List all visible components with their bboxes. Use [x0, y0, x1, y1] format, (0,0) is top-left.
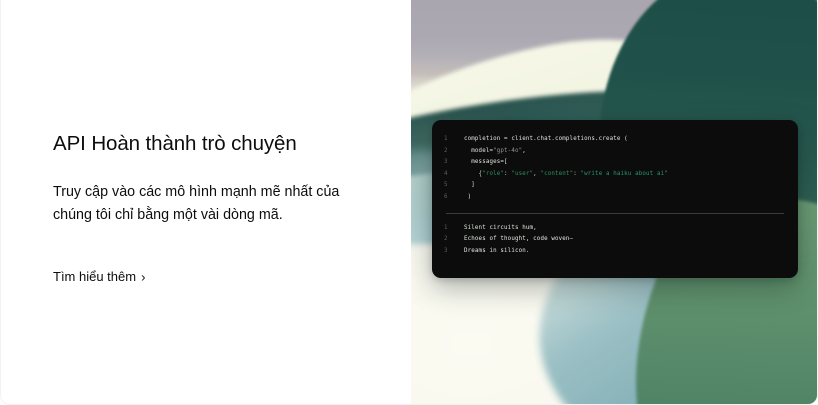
- code-line-number: 6: [444, 192, 464, 204]
- output-line-number: 2: [444, 234, 464, 246]
- code-line-text: ]: [464, 180, 475, 192]
- code-line: 1completion = client.chat.completions.cr…: [432, 134, 798, 146]
- artwork-panel: 1completion = client.chat.completions.cr…: [411, 0, 818, 404]
- text-content: API Hoàn thành trò chuyện Truy cập vào c…: [53, 131, 373, 286]
- code-line-text: ): [464, 192, 471, 204]
- code-line: 4 {"role": "user", "content": "write a h…: [432, 169, 798, 181]
- code-line: 2 model="gpt-4o",: [432, 146, 798, 158]
- code-divider: [446, 213, 784, 214]
- output-line: 1Silent circuits hum,: [432, 223, 798, 235]
- code-line-number: 5: [444, 180, 464, 192]
- code-line-number: 4: [444, 169, 464, 181]
- code-output-block: 1Silent circuits hum,2Echoes of thought,…: [432, 223, 798, 258]
- output-line: 2Echoes of thought, code woven—: [432, 234, 798, 246]
- code-line-text: {"role": "user", "content": "write a hai…: [464, 169, 668, 181]
- code-line-text: model="gpt-4o",: [464, 146, 526, 158]
- output-line-text: Silent circuits hum,: [464, 223, 537, 235]
- page-title: API Hoàn thành trò chuyện: [53, 131, 373, 157]
- promo-card: API Hoàn thành trò chuyện Truy cập vào c…: [0, 0, 818, 405]
- code-line-number: 2: [444, 146, 464, 158]
- code-line-text: messages=[: [464, 157, 508, 169]
- learn-more-label: Tìm hiểu thêm: [53, 269, 136, 285]
- output-line: 3Dreams in silicon.: [432, 246, 798, 258]
- description-text: Truy cập vào các mô hình mạnh mẽ nhất củ…: [53, 181, 368, 227]
- code-bottom-spacer: [432, 257, 798, 263]
- output-line-text: Echoes of thought, code woven—: [464, 234, 573, 246]
- learn-more-link[interactable]: Tìm hiểu thêm ›: [53, 269, 145, 285]
- code-line-number: 3: [444, 157, 464, 169]
- chevron-right-icon: ›: [141, 270, 145, 283]
- output-line-number: 1: [444, 223, 464, 235]
- code-line: 3 messages=[: [432, 157, 798, 169]
- code-line: 6 ): [432, 192, 798, 204]
- text-panel: API Hoàn thành trò chuyện Truy cập vào c…: [1, 0, 411, 404]
- code-input-block: 1completion = client.chat.completions.cr…: [432, 134, 798, 204]
- output-line-text: Dreams in silicon.: [464, 246, 530, 258]
- code-sample-card: 1completion = client.chat.completions.cr…: [432, 120, 798, 278]
- code-line-number: 1: [444, 134, 464, 146]
- code-line-text: completion = client.chat.completions.cre…: [464, 134, 628, 146]
- output-line-number: 3: [444, 246, 464, 258]
- code-line: 5 ]: [432, 180, 798, 192]
